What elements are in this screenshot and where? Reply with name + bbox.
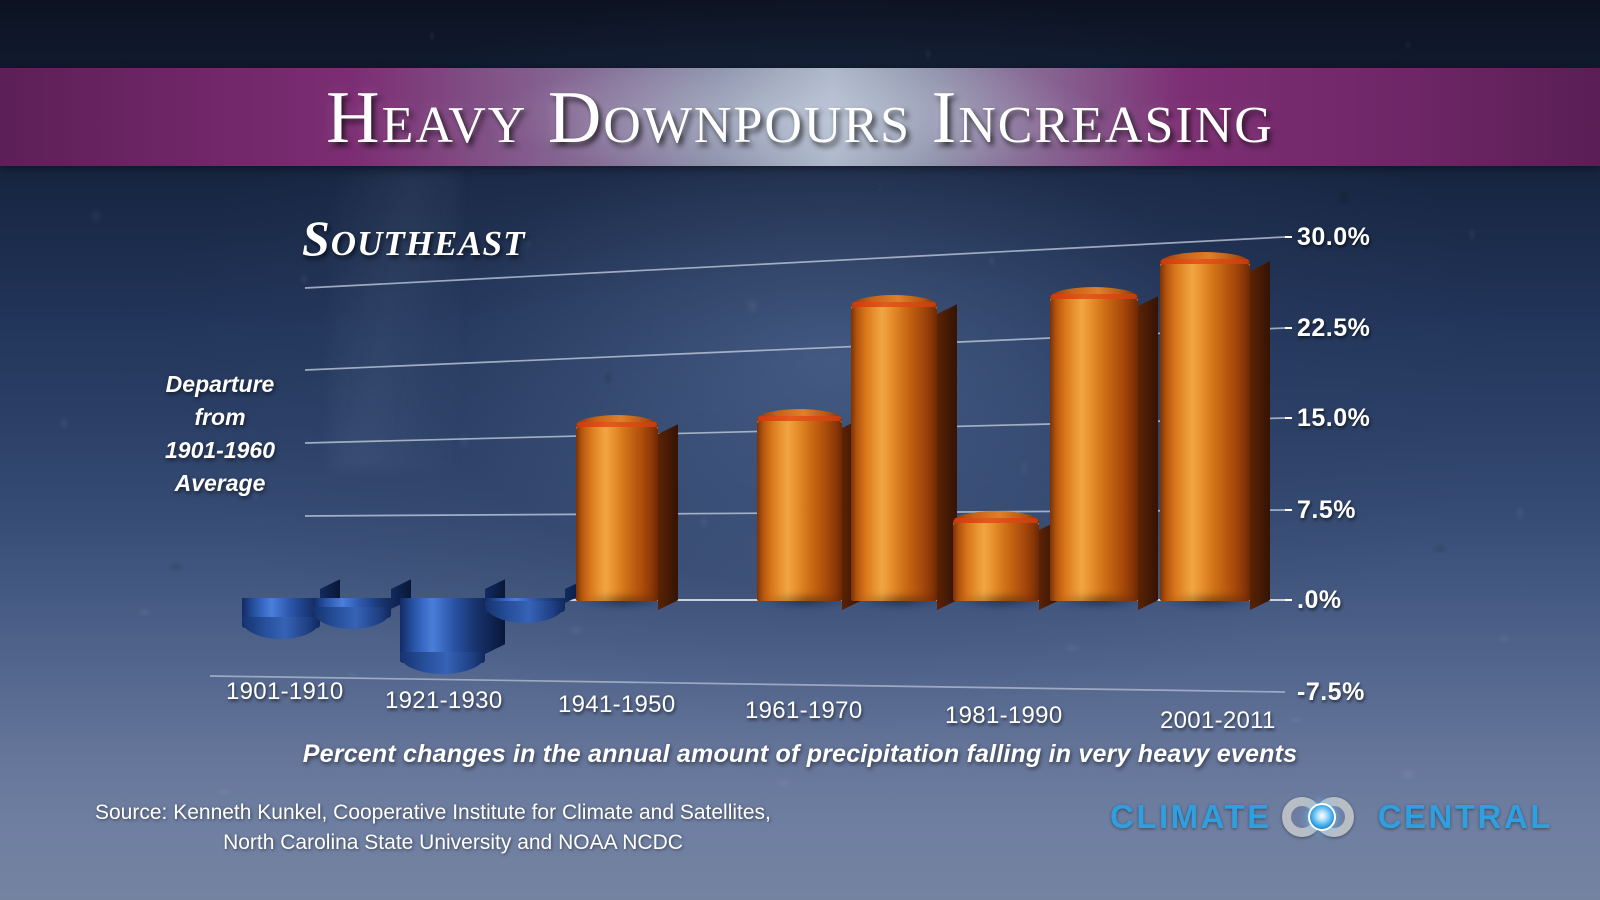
y-tick-30: 30.0% [1297, 223, 1370, 252]
bar-2001-2011 [1160, 262, 1250, 601]
y-axis-title-line-1: Departure [140, 368, 300, 401]
bar-front-face [1050, 297, 1138, 601]
y-tick-15: 15.0% [1297, 404, 1370, 433]
bar-1931-1940 [485, 598, 565, 612]
bar-ground-shadow [582, 593, 664, 609]
x-tick-2001-2011: 2001-2011 [1160, 707, 1276, 735]
logo-word-climate: CLIMATE [1110, 798, 1272, 836]
chart-caption: Percent changes in the annual amount of … [0, 740, 1600, 769]
bar-front-face [953, 521, 1039, 601]
bar-top-edge [758, 416, 841, 421]
bar-bottom-cap [313, 607, 391, 629]
bar-front-face [757, 419, 842, 601]
bar-front-face [851, 305, 937, 601]
y-axis-title-line-4: Average [140, 467, 300, 500]
y-axis-title-line-2: from [140, 401, 300, 434]
bar-top-edge [1161, 259, 1249, 264]
y-tick-22-5: 22.5% [1297, 314, 1370, 343]
source-attribution: Source: Kenneth Kunkel, Cooperative Inst… [95, 798, 775, 858]
logo-word-central: CENTRAL [1378, 798, 1553, 836]
bar-side-face [1250, 261, 1270, 610]
bar-ground-shadow [959, 593, 1045, 609]
source-line-1: Source: Kenneth Kunkel, Cooperative Inst… [95, 798, 775, 828]
bar-1901-1910 [242, 598, 320, 628]
bar-1921-1930 [400, 598, 485, 663]
bar-top-edge [1051, 294, 1137, 299]
bar-1961-1970 [757, 419, 842, 601]
logo-core-glow [1308, 803, 1336, 831]
bar-bottom-cap [242, 617, 320, 639]
bar-1941-1950 [576, 425, 658, 601]
bar-side-face [1138, 296, 1158, 610]
source-line-2: North Carolina State University and NOAA… [95, 828, 775, 858]
bar-bottom-cap [400, 652, 485, 674]
bar-top-edge [577, 422, 657, 427]
bar-ground-shadow [763, 593, 848, 609]
bar-top-edge [852, 302, 936, 307]
y-axis-title-line-3: 1901-1960 [140, 434, 300, 467]
bar-front-face [1160, 262, 1250, 601]
y-axis-title: Departure from 1901-1960 Average [140, 368, 300, 500]
bar-1981-1990 [953, 521, 1039, 601]
interlocking-rings-icon [1282, 795, 1368, 839]
bar-1991-2000 [1050, 297, 1138, 601]
bar-ground-shadow [1166, 593, 1256, 609]
bar-1971-1980 [851, 305, 937, 601]
y-tick-7-5: 7.5% [1297, 496, 1356, 525]
x-tick-1961-1970: 1961-1970 [745, 697, 862, 725]
bar-ground-shadow [1056, 593, 1144, 609]
bar-front-face [576, 425, 658, 601]
x-tick-1981-1990: 1981-1990 [945, 702, 1062, 730]
bar-top-edge [954, 518, 1038, 523]
infographic-canvas: Heavy Downpours Increasing Southeast 30.… [0, 0, 1600, 900]
y-tick-neg-7-5: -7.5% [1297, 678, 1365, 707]
x-tick-1901-1910: 1901-1910 [226, 678, 343, 706]
x-tick-1941-1950: 1941-1950 [558, 691, 675, 719]
climate-central-logo[interactable]: CLIMATE CENTRAL [1110, 795, 1553, 839]
bar-ground-shadow [857, 593, 943, 609]
bar-1911-1920 [313, 598, 391, 618]
y-tick-0: .0% [1297, 586, 1342, 615]
x-tick-1921-1930: 1921-1930 [385, 687, 502, 715]
bar-side-face [658, 424, 678, 610]
